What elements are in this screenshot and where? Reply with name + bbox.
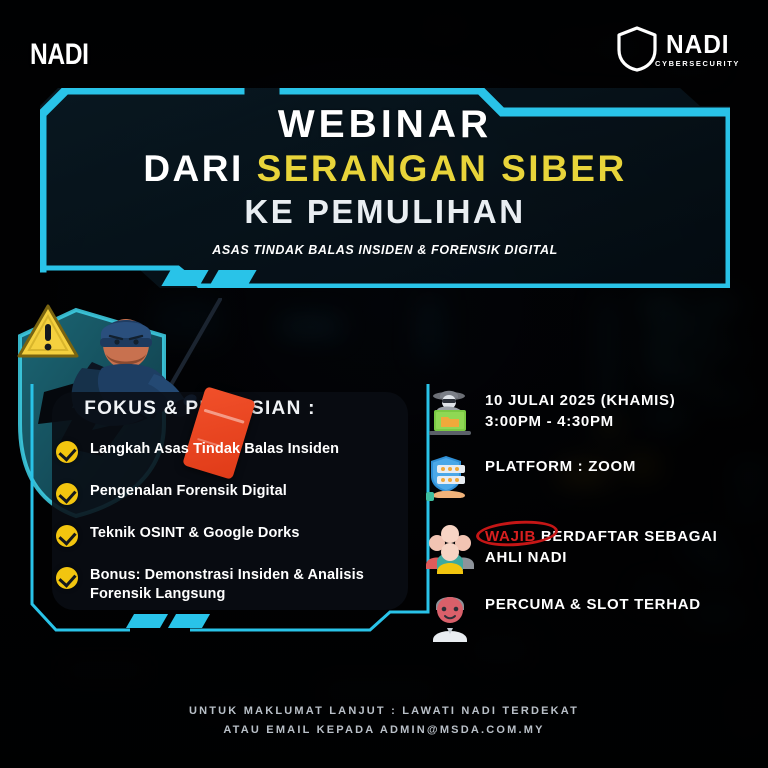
title-line-webinar: WEBINAR [40, 104, 730, 146]
check-icon [56, 483, 78, 505]
detail-text-free: PERCUMA & SLOT TERHAD [485, 590, 701, 615]
title-block: WEBINAR DARI SERANGAN SIBER KE PEMULIHAN… [40, 104, 730, 257]
membership-line-1: WAJIB BERDAFTAR SEBAGAI [485, 526, 718, 547]
poster-canvas: NADI NADI CYBERSECURITY WEBINAR DARI SER… [0, 0, 768, 768]
time-line: 3:00PM - 4:30PM [485, 411, 675, 432]
footer-line-1: UNTUK MAKLUMAT LANJUT : LAWATI NADI TERD… [0, 702, 768, 721]
membership-rest: BERDAFTAR SEBAGAI [536, 528, 718, 545]
nadi-wordmark-left: NADI [30, 38, 89, 72]
shield-icon [616, 26, 658, 72]
wajib-highlight: WAJIB [485, 526, 536, 547]
details-column: 10 JULAI 2025 (KHAMIS) 3:00PM - 4:30PM [425, 386, 755, 656]
detail-text-platform: PLATFORM : ZOOM [485, 452, 636, 477]
group-people-icon [425, 522, 475, 574]
check-icon [56, 441, 78, 463]
membership-line-2: AHLI NADI [485, 547, 718, 568]
check-icon [56, 567, 78, 589]
detail-text-date: 10 JULAI 2025 (KHAMIS) 3:00PM - 4:30PM [485, 386, 675, 433]
list-item-label: Langkah Asas Tindak Balas Insiden [90, 440, 339, 459]
detail-row-membership: WAJIB BERDAFTAR SEBAGAI AHLI NADI [425, 522, 755, 574]
detail-row-platform: PLATFORM : ZOOM [425, 452, 755, 504]
list-item-label: Teknik OSINT & Google Dorks [90, 524, 300, 543]
warning-triangle-icon [16, 302, 80, 360]
focus-list: Langkah Asas Tindak Balas Insiden Pengen… [56, 440, 416, 623]
free-line: PERCUMA & SLOT TERHAD [485, 594, 701, 615]
logo-text-main: NADI [666, 31, 730, 57]
detail-text-membership: WAJIB BERDAFTAR SEBAGAI AHLI NADI [485, 522, 718, 569]
list-item-label: Bonus: Demonstrasi Insiden & Analisis Fo… [90, 566, 408, 604]
footer: UNTUK MAKLUMAT LANJUT : LAWATI NADI TERD… [0, 702, 768, 741]
list-item: Bonus: Demonstrasi Insiden & Analisis Fo… [56, 566, 416, 604]
title-word-serangan-siber: SERANGAN SIBER [257, 148, 627, 189]
platform-line: PLATFORM : ZOOM [485, 456, 636, 477]
wajib-text: WAJIB [485, 528, 536, 545]
list-item-label: Pengenalan Forensik Digital [90, 482, 287, 501]
hacker-laptop-icon [425, 386, 475, 438]
footer-line-2: ATAU EMAIL KEPADA ADMIN@MSDA.COM.MY [0, 721, 768, 740]
shield-hand-data-icon [425, 452, 475, 504]
title-subtitle: ASAS TINDAK BALAS INSIDEN & FORENSIK DIG… [40, 243, 730, 257]
logo-text-sub: CYBERSECURITY [655, 60, 740, 68]
detail-row-free: PERCUMA & SLOT TERHAD [425, 590, 755, 642]
title-line-pemulihan: KE PEMULIHAN [40, 191, 730, 234]
title-frame: WEBINAR DARI SERANGAN SIBER KE PEMULIHAN… [40, 88, 730, 288]
list-item: Teknik OSINT & Google Dorks [56, 524, 416, 547]
detail-row-date: 10 JULAI 2025 (KHAMIS) 3:00PM - 4:30PM [425, 386, 755, 438]
title-word-dari: DARI [143, 148, 256, 189]
title-line-main: DARI SERANGAN SIBER [40, 146, 730, 191]
check-icon [56, 525, 78, 547]
list-item: Langkah Asas Tindak Balas Insiden [56, 440, 416, 463]
date-line: 10 JULAI 2025 (KHAMIS) [485, 390, 675, 411]
nadi-cybersecurity-logo: NADI CYBERSECURITY [616, 26, 740, 72]
list-item: Pengenalan Forensik Digital [56, 482, 416, 505]
person-icon [425, 590, 475, 642]
